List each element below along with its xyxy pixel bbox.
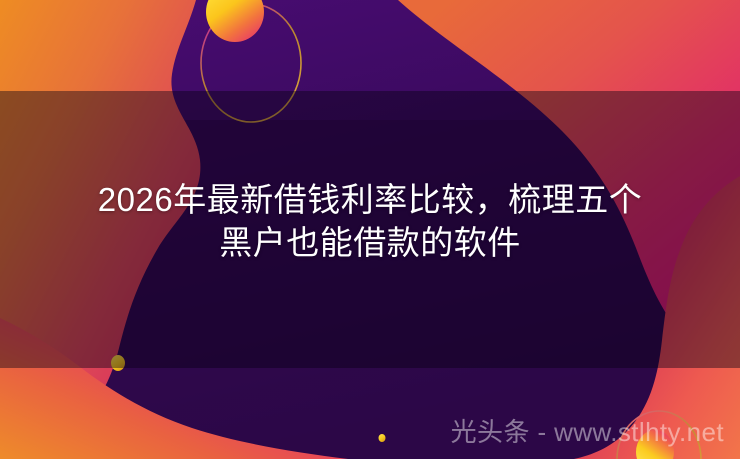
cover-banner: 2026年最新借钱利率比较，梳理五个 黑户也能借款的软件 光头条 - www.s… [0, 0, 740, 459]
decor-small-yellow-dot [111, 355, 125, 371]
title-line-1: 2026年最新借钱利率比较，梳理五个 [18, 178, 722, 221]
title-line-2: 黑户也能借款的软件 [18, 221, 722, 264]
page-title: 2026年最新借钱利率比较，梳理五个 黑户也能借款的软件 [0, 178, 740, 264]
decor-tiny-yellow-dot [379, 434, 386, 442]
